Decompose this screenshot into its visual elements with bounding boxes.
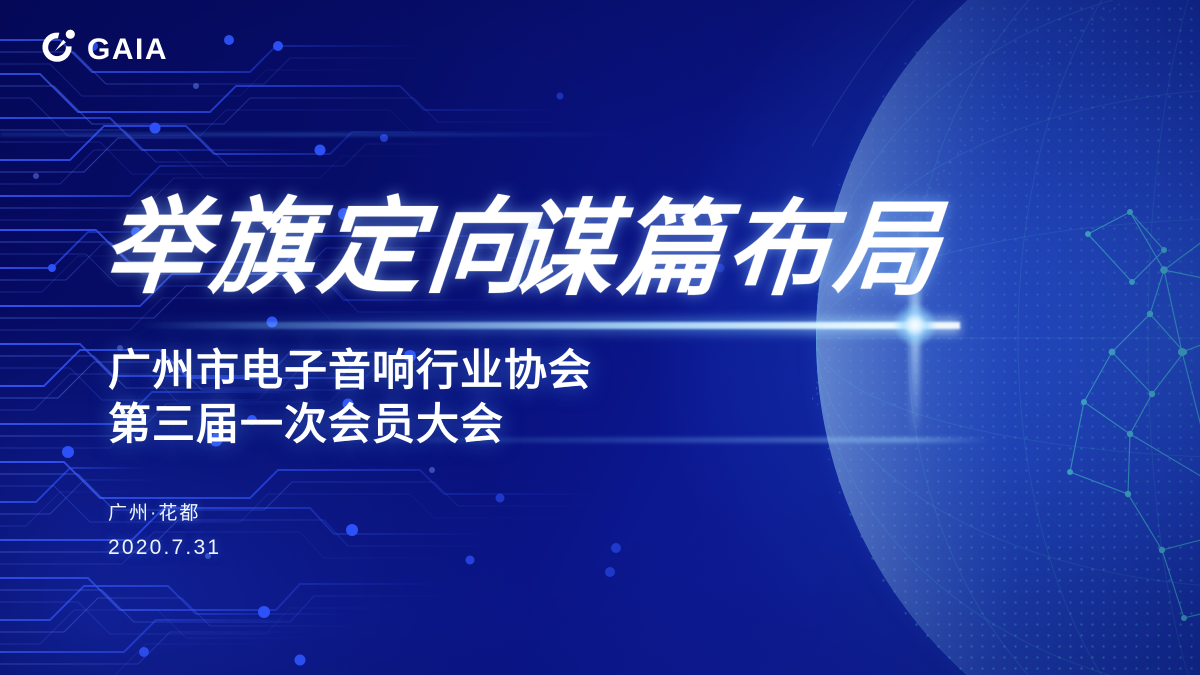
gaia-circular-pointer-logo-icon bbox=[36, 26, 78, 73]
event-location: 广州·花都 bbox=[108, 497, 221, 530]
headline-right: 谋篇布局 bbox=[505, 187, 950, 310]
upper-light-streak bbox=[0, 133, 640, 136]
vignette-overlay bbox=[0, 0, 1200, 675]
headline: 举旗定向 谋篇布局 bbox=[108, 185, 888, 305]
event-date: 2020.7.31 bbox=[108, 530, 221, 567]
event-meta: 广州·花都 2020.7.31 bbox=[108, 497, 221, 567]
brand-name: GAIA bbox=[87, 35, 168, 65]
brand-logo[interactable]: GAIA bbox=[36, 26, 168, 73]
subtitle-line-2: 第三届一次会员大会 bbox=[108, 398, 592, 452]
event-poster: GAIA 举旗定向 谋篇布局 广州市电子音响行业协会 第三届一次会员大会 广州·… bbox=[0, 0, 1200, 675]
subtitle-line-1: 广州市电子音响行业协会 bbox=[108, 344, 592, 398]
headline-left: 举旗定向 bbox=[97, 185, 545, 308]
horizontal-light-beam bbox=[140, 322, 960, 329]
subtitle: 广州市电子音响行业协会 第三届一次会员大会 bbox=[108, 344, 592, 452]
